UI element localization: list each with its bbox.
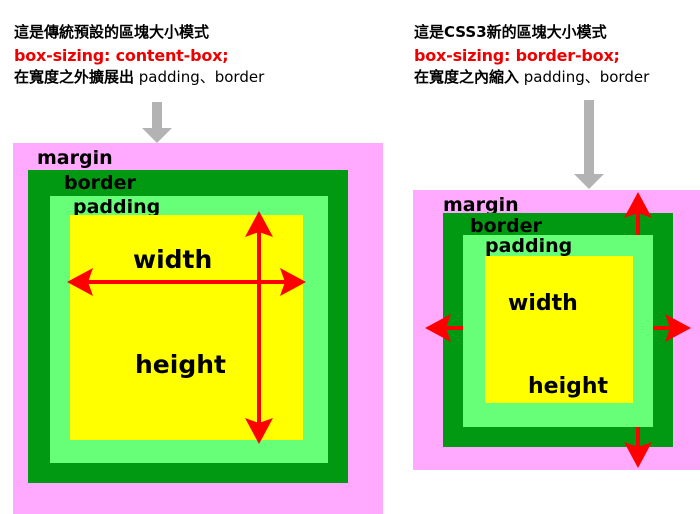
- left-content-box: width height: [70, 215, 303, 440]
- left-down-arrow-icon: [139, 102, 175, 144]
- left-width-label: width: [133, 247, 212, 272]
- left-caption-code: box-sizing: content-box;: [14, 44, 264, 67]
- right-caption-block: 這是CSS3新的區塊大小模式 box-sizing: border-box; 在…: [414, 22, 649, 89]
- right-border-box: border padding width height: [443, 213, 673, 447]
- left-height-label: height: [135, 352, 226, 377]
- right-caption-line-3-code: padding、border: [519, 68, 649, 86]
- left-border-label: border: [64, 174, 136, 193]
- right-height-label: height: [528, 376, 608, 398]
- left-padding-box: padding width height: [50, 196, 328, 463]
- right-padding-label: padding: [485, 237, 572, 256]
- right-border-label: border: [470, 217, 542, 236]
- right-width-label: width: [508, 293, 578, 315]
- left-caption-line-3: 在寬度之外擴展出 padding、border: [14, 67, 264, 89]
- right-caption-line-3: 在寬度之內縮入 padding、border: [414, 67, 649, 89]
- right-margin-box: margin border padding width height: [413, 190, 700, 470]
- right-caption-line-3-prefix: 在寬度之內縮入: [414, 68, 519, 86]
- left-border-box: border padding width height: [28, 170, 348, 483]
- left-caption-line-1: 這是傳統預設的區塊大小模式: [14, 22, 264, 44]
- left-height-arrow-icon: [242, 211, 276, 444]
- left-caption-block: 這是傳統預設的區塊大小模式 box-sizing: content-box; 在…: [14, 22, 264, 89]
- right-down-arrow-icon: [571, 100, 607, 190]
- left-margin-label: margin: [37, 149, 113, 168]
- left-caption-line-3-code: padding、border: [134, 68, 264, 86]
- left-caption-line-3-prefix: 在寬度之外擴展出: [14, 68, 134, 86]
- right-caption-line-1: 這是CSS3新的區塊大小模式: [414, 22, 649, 44]
- right-caption-code: box-sizing: border-box;: [414, 44, 649, 67]
- left-margin-box: margin border padding width heig: [13, 143, 383, 514]
